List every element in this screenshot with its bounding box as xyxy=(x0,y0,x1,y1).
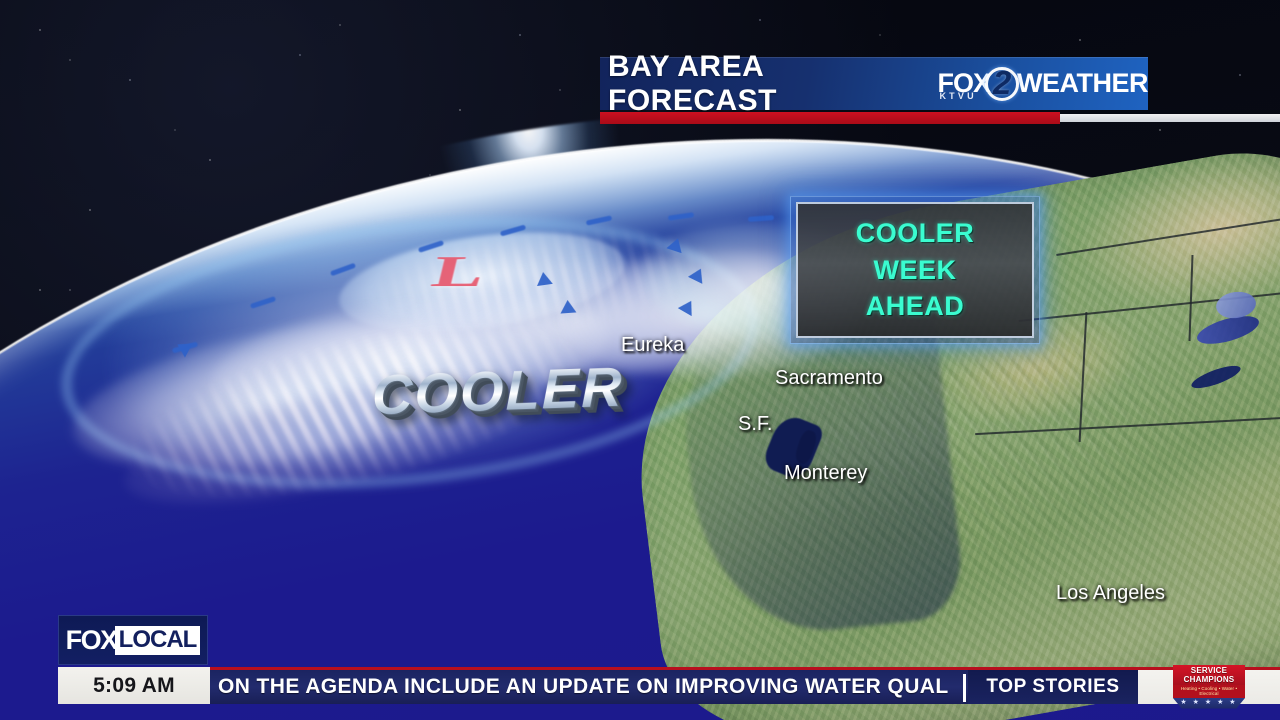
cooler-3d-graphic: COOLER xyxy=(372,354,624,428)
broadcast-screen: L COOLER Eureka Sacramento S.F. Monterey… xyxy=(0,0,1280,720)
forecast-message-panel: COOLER WEEK AHEAD xyxy=(790,196,1040,344)
sponsor-strip[interactable]: SERVICE CHAMPIONS Heating • Cooling • Wa… xyxy=(1138,667,1280,704)
forecast-line-3: AHEAD xyxy=(866,289,965,324)
news-ticker-text: ON THE AGENDA INCLUDE AN UPDATE ON IMPRO… xyxy=(210,675,949,699)
sponsor-tagline: Heating • Cooling • Water • Electrical xyxy=(1173,685,1245,698)
city-label-los-angeles: Los Angeles xyxy=(1056,582,1165,605)
forecast-line-2: WEEK xyxy=(874,253,957,288)
weather-wordmark: WEATHER xyxy=(1017,70,1148,97)
fox-local-inner: FOX LOCAL xyxy=(66,626,201,655)
city-label-sacramento: Sacramento xyxy=(775,367,883,390)
forecast-title-banner: BAY AREA FORECAST FOX KTVU 2 WEATHER xyxy=(600,57,1148,110)
fox-weather-logo: FOX KTVU 2 WEATHER xyxy=(937,65,1148,103)
ticker-caret xyxy=(963,674,966,702)
sponsor-name: SERVICE CHAMPIONS xyxy=(1173,665,1245,685)
banner-red-underline xyxy=(600,112,1060,124)
front-barb-icon xyxy=(535,271,553,286)
city-label-san-francisco: S.F. xyxy=(738,413,772,436)
clock-display: 5:09 AM xyxy=(58,667,210,704)
channel-two-glyph: 2 xyxy=(983,63,1021,103)
ktvu-callsign: KTVU xyxy=(939,92,976,101)
sponsor-stars: ★ ★ ★ ★ ★ xyxy=(1173,698,1245,709)
top-stories-label: TOP STORIES xyxy=(986,676,1119,698)
banner-white-underline xyxy=(1060,114,1280,122)
city-label-monterey: Monterey xyxy=(784,462,867,485)
forecast-line-1: COOLER xyxy=(856,216,975,251)
sponsor-logo: SERVICE CHAMPIONS Heating • Cooling • Wa… xyxy=(1173,665,1245,708)
channel-two-icon: 2 xyxy=(983,65,1021,103)
top-stories-panel[interactable]: TOP STORIES xyxy=(968,667,1138,704)
front-barb-icon xyxy=(560,299,577,313)
city-label-eureka: Eureka xyxy=(621,334,684,357)
banner-title-text: BAY AREA FORECAST xyxy=(608,50,911,118)
fox-local-local-text: LOCAL xyxy=(115,626,201,655)
fox-local-logo[interactable]: FOX LOCAL xyxy=(58,615,208,665)
clock-time-text: 5:09 AM xyxy=(93,674,175,698)
forecast-message-inner: COOLER WEEK AHEAD xyxy=(796,202,1034,338)
low-pressure-icon: L xyxy=(428,249,486,293)
fox-local-fox-text: FOX xyxy=(66,627,117,654)
news-ticker[interactable]: ON THE AGENDA INCLUDE AN UPDATE ON IMPRO… xyxy=(210,667,968,704)
